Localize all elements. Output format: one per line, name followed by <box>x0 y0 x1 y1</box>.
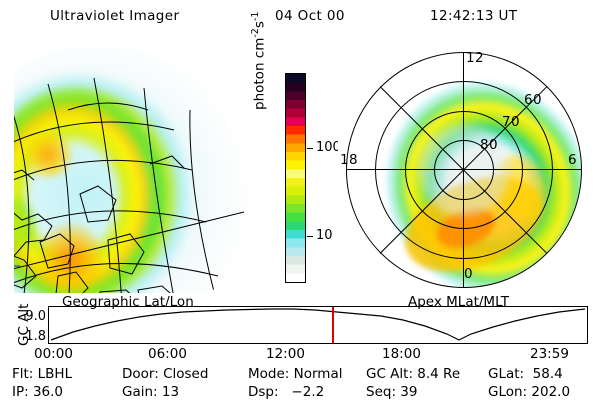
apex-polar-panel[interactable]: 12 18 6 0 60 70 80 <box>338 48 588 296</box>
status-glon: GLon: 202.0 <box>488 384 570 400</box>
observation-time: 12:42:13 UT <box>430 8 517 24</box>
time-tick-1200: 12:00 <box>266 346 305 362</box>
time-tick-1800: 18:00 <box>382 346 421 362</box>
status-seq: Seq: 39 <box>366 384 417 400</box>
colorbar <box>285 73 306 283</box>
geographic-canvas <box>14 48 254 293</box>
mlt-label-18: 18 <box>340 152 358 168</box>
time-tick-0000: 00:00 <box>34 346 73 362</box>
mlt-label-12: 12 <box>466 50 484 66</box>
status-gcalt: GC Alt: 8.4 Re <box>366 366 460 382</box>
status-glat: GLat: 58.4 <box>488 366 563 382</box>
status-door: Door: Closed <box>122 366 208 382</box>
mlat-label-80: 80 <box>480 137 498 153</box>
mlat-label-60: 60 <box>524 92 542 108</box>
colorbar-axis-title: photon cm-2s-1 <box>250 0 268 110</box>
status-footer: Flt: LBHL IP: 36.0 Door: Closed Gain: 13… <box>0 364 600 400</box>
status-flt: Flt: LBHL <box>12 366 72 382</box>
orbit-altitude-plot[interactable] <box>48 306 588 344</box>
mlat-label-70: 70 <box>502 114 520 130</box>
geographic-grid-overlay <box>14 48 248 293</box>
orbit-altitude-curve <box>49 307 587 343</box>
gc-alt-tick-low: 1.8 <box>16 329 46 344</box>
mlt-label-0: 0 <box>464 266 473 282</box>
status-ip: IP: 36.0 <box>12 384 63 400</box>
mlt-label-6: 6 <box>568 152 577 168</box>
earth-globe-disc <box>14 48 248 293</box>
status-dsp: Dsp: −2.2 <box>248 384 324 400</box>
status-gain: Gain: 13 <box>122 384 179 400</box>
colorbar-tick-10 <box>307 236 313 237</box>
colorbar-tick-100 <box>307 148 313 149</box>
observation-date: 04 Oct 00 <box>275 8 345 24</box>
colorbar-gradient <box>286 74 305 282</box>
gc-alt-tick-high: 9.0 <box>16 309 46 324</box>
geographic-image-panel[interactable] <box>14 48 254 293</box>
time-tick-0600: 06:00 <box>148 346 187 362</box>
current-time-marker <box>332 307 334 343</box>
colorbar-label-10: 10 <box>316 228 333 243</box>
instrument-title: Ultraviolet Imager <box>50 8 179 24</box>
status-mode: Mode: Normal <box>248 366 342 382</box>
time-tick-2359: 23:59 <box>530 346 569 362</box>
polar-dial: 12 18 6 0 60 70 80 <box>346 52 582 288</box>
